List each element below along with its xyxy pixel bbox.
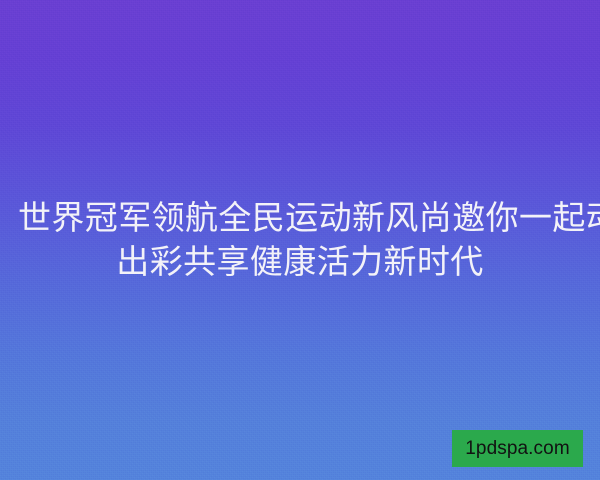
watermark-badge: 1pdspa.com xyxy=(452,430,583,467)
promo-banner: 世界冠军领航全民运动新风尚邀你一起动 出彩共享健康活力新时代 1pdspa.co… xyxy=(0,0,600,480)
headline-line-2: 出彩共享健康活力新时代 xyxy=(18,240,582,284)
headline-line-1: 世界冠军领航全民运动新风尚邀你一起动 xyxy=(18,196,582,240)
watermark-label: 1pdspa.com xyxy=(465,439,570,458)
headline-text: 世界冠军领航全民运动新风尚邀你一起动 出彩共享健康活力新时代 xyxy=(0,196,600,284)
